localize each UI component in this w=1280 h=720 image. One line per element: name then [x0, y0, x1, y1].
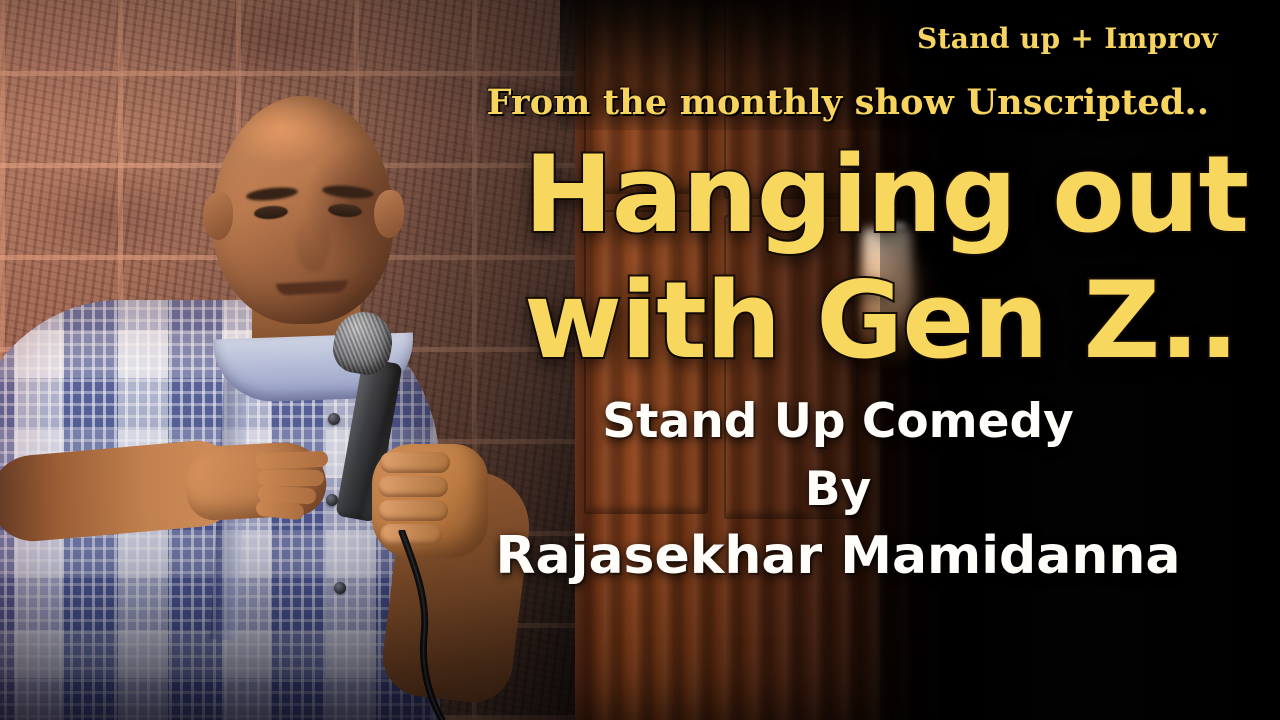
- performer-figure: [0, 0, 560, 720]
- subtitle-genre: Stand Up Comedy: [602, 398, 1074, 445]
- kurta-button: [334, 582, 346, 594]
- knuckle: [378, 476, 448, 497]
- ear-right: [374, 190, 404, 238]
- ear-left: [203, 192, 233, 240]
- finger: [256, 451, 329, 470]
- finger: [258, 470, 324, 486]
- show-name-text: From the monthly show Unscripted..: [487, 82, 1210, 123]
- knuckle: [378, 500, 448, 521]
- knuckle: [380, 524, 442, 545]
- nose: [296, 216, 330, 272]
- performer-name: Rajasekhar Mamidanna: [496, 530, 1181, 582]
- kurta-button: [326, 494, 338, 506]
- poster-thumbnail: Stand up + Improv From the monthly show …: [0, 0, 1280, 720]
- subtitle-by: By: [805, 466, 871, 513]
- knuckle: [380, 452, 450, 473]
- title-line-2: with Gen Z..: [524, 268, 1238, 374]
- kurta-button: [328, 413, 340, 425]
- title-line-1: Hanging out: [524, 142, 1248, 248]
- kicker-text: Stand up + Improv: [917, 22, 1218, 55]
